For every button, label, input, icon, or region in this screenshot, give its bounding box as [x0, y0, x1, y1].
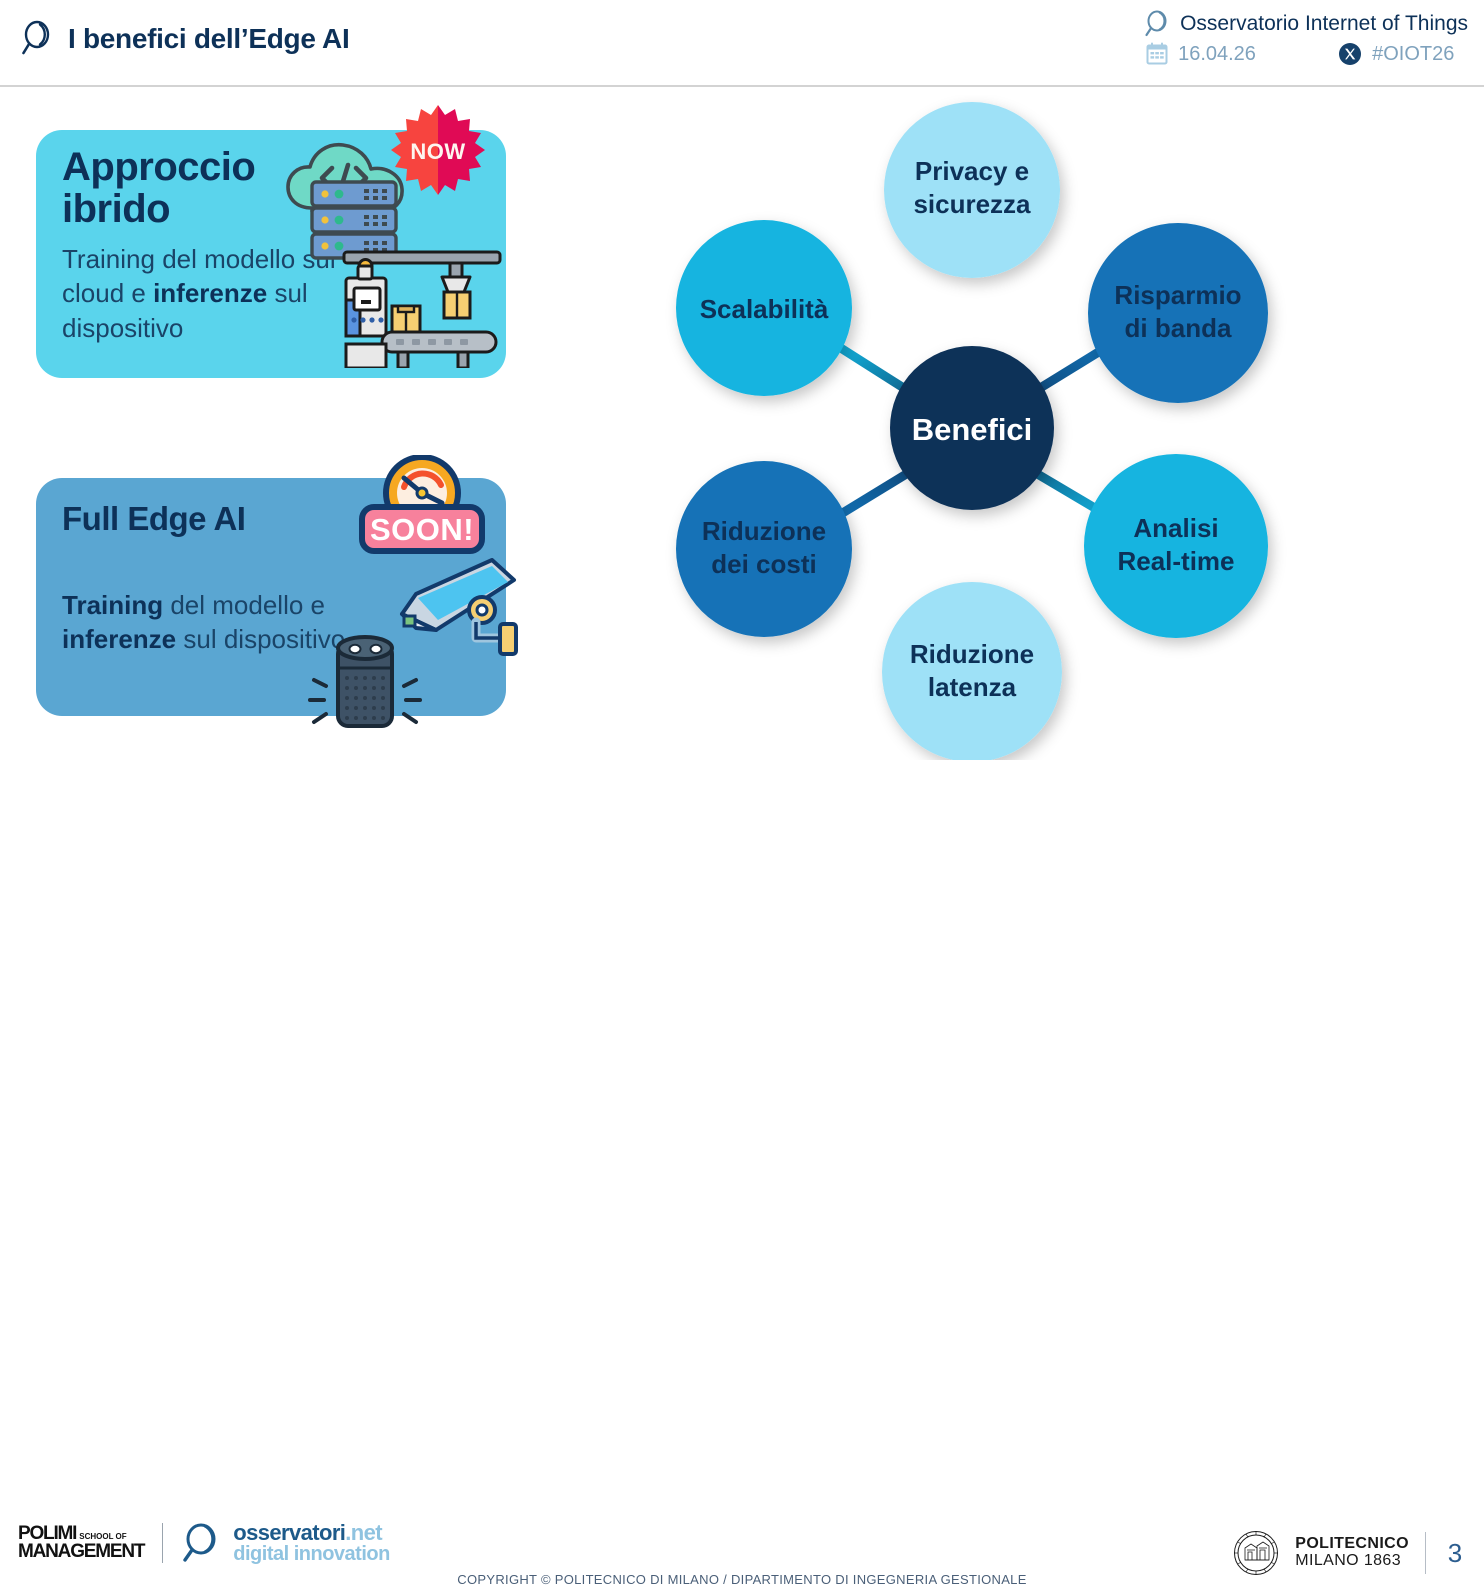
- politecnico-line1: POLITECNICO: [1295, 1536, 1409, 1553]
- magnifier-icon: [1144, 10, 1170, 38]
- svg-text:Analisi: Analisi: [1133, 513, 1218, 543]
- observatory-row: Osservatorio Internet of Things: [1144, 10, 1468, 38]
- osservatori-logo: osservatori.net digital innovation: [181, 1522, 390, 1564]
- magnifier-icon: [20, 20, 54, 58]
- politecnico-seal-icon: [1233, 1530, 1279, 1576]
- footer-divider-2: [1425, 1532, 1426, 1574]
- svg-text:Scalabilità: Scalabilità: [700, 294, 829, 324]
- node-benefici-center: Benefici: [890, 346, 1054, 510]
- slide-footer: POLIMI SCHOOL OF MANAGEMENT osservatori.…: [0, 754, 1484, 834]
- svg-text:NOW: NOW: [410, 139, 465, 164]
- event-date: 16.04.26: [1178, 43, 1328, 66]
- politecnico-line2: MILANO 1863: [1295, 1553, 1409, 1570]
- smart-speaker-icon: [300, 628, 428, 738]
- node-privacy-sicurezza: Privacy e sicurezza: [884, 102, 1060, 278]
- svg-text:Riduzione: Riduzione: [910, 639, 1034, 669]
- digital-innovation-word: digital innovation: [233, 1544, 390, 1564]
- card-body-mid: del modello e: [163, 590, 325, 620]
- magnifier-icon: [181, 1522, 223, 1564]
- node-analisi-real-time: Analisi Real-time: [1084, 454, 1268, 638]
- svg-text:Real-time: Real-time: [1117, 546, 1234, 576]
- svg-text:Riduzione: Riduzione: [702, 516, 826, 546]
- node-risparmio-di-banda: Risparmio di banda: [1088, 223, 1268, 403]
- svg-text:di banda: di banda: [1125, 313, 1232, 343]
- node-riduzione-latenza: Riduzione latenza: [882, 582, 1062, 760]
- calendar-icon: [1146, 42, 1168, 66]
- date-hashtag-row: 16.04.26 #OIOT26: [1146, 42, 1454, 66]
- svg-text:Privacy e: Privacy e: [915, 156, 1029, 186]
- polimi-word: POLIMI: [18, 1525, 76, 1543]
- badge-soon: SOON!: [352, 455, 492, 560]
- card-body-bold-2: inferenze: [62, 624, 176, 654]
- card-title: Full Edge AI: [62, 502, 362, 537]
- page-title-group: I benefici dell’Edge AI: [20, 20, 349, 58]
- node-riduzione-dei-costi: Riduzione dei costi: [676, 461, 852, 637]
- card-body-bold: Training: [62, 590, 163, 620]
- polimi-som-logo: POLIMI SCHOOL OF MANAGEMENT: [18, 1525, 144, 1561]
- event-hashtag: #OIOT26: [1372, 43, 1454, 66]
- svg-text:Risparmio: Risparmio: [1114, 280, 1241, 310]
- osservatori-word: osservatori: [233, 1520, 345, 1545]
- svg-text:SOON!: SOON!: [370, 512, 474, 547]
- factory-conveyor-icon: [332, 248, 512, 368]
- svg-text:Benefici: Benefici: [912, 412, 1033, 447]
- benefits-hub-diagram: Privacy e sicurezza Risparmio di banda A…: [650, 95, 1300, 760]
- svg-text:sicurezza: sicurezza: [913, 189, 1031, 219]
- observatory-label: Osservatorio Internet of Things: [1180, 12, 1468, 36]
- svg-text:dei costi: dei costi: [711, 549, 816, 579]
- footer-logos-left: POLIMI SCHOOL OF MANAGEMENT osservatori.…: [18, 1522, 390, 1564]
- net-suffix: .net: [345, 1520, 382, 1545]
- svg-text:latenza: latenza: [928, 672, 1017, 702]
- politecnico-wordmark: POLITECNICO MILANO 1863: [1295, 1536, 1409, 1570]
- footer-logos-right: POLITECNICO MILANO 1863 3: [1233, 1530, 1468, 1576]
- slide-header: I benefici dell’Edge AI Osservatorio Int…: [0, 0, 1484, 86]
- header-divider: [0, 85, 1484, 87]
- footer-divider-1: [162, 1523, 163, 1563]
- header-meta: Osservatorio Internet of Things 16.04.26: [1144, 10, 1468, 66]
- page-number: 3: [1442, 1538, 1468, 1569]
- card-body-bold: inferenze: [153, 278, 267, 308]
- badge-now: NOW: [390, 104, 486, 200]
- school-of-word: SCHOOL OF: [79, 1533, 126, 1541]
- node-scalabilita: Scalabilità: [676, 220, 852, 396]
- management-word: MANAGEMENT: [18, 1543, 144, 1561]
- x-twitter-icon[interactable]: [1338, 42, 1362, 66]
- page-title: I benefici dell’Edge AI: [68, 23, 349, 55]
